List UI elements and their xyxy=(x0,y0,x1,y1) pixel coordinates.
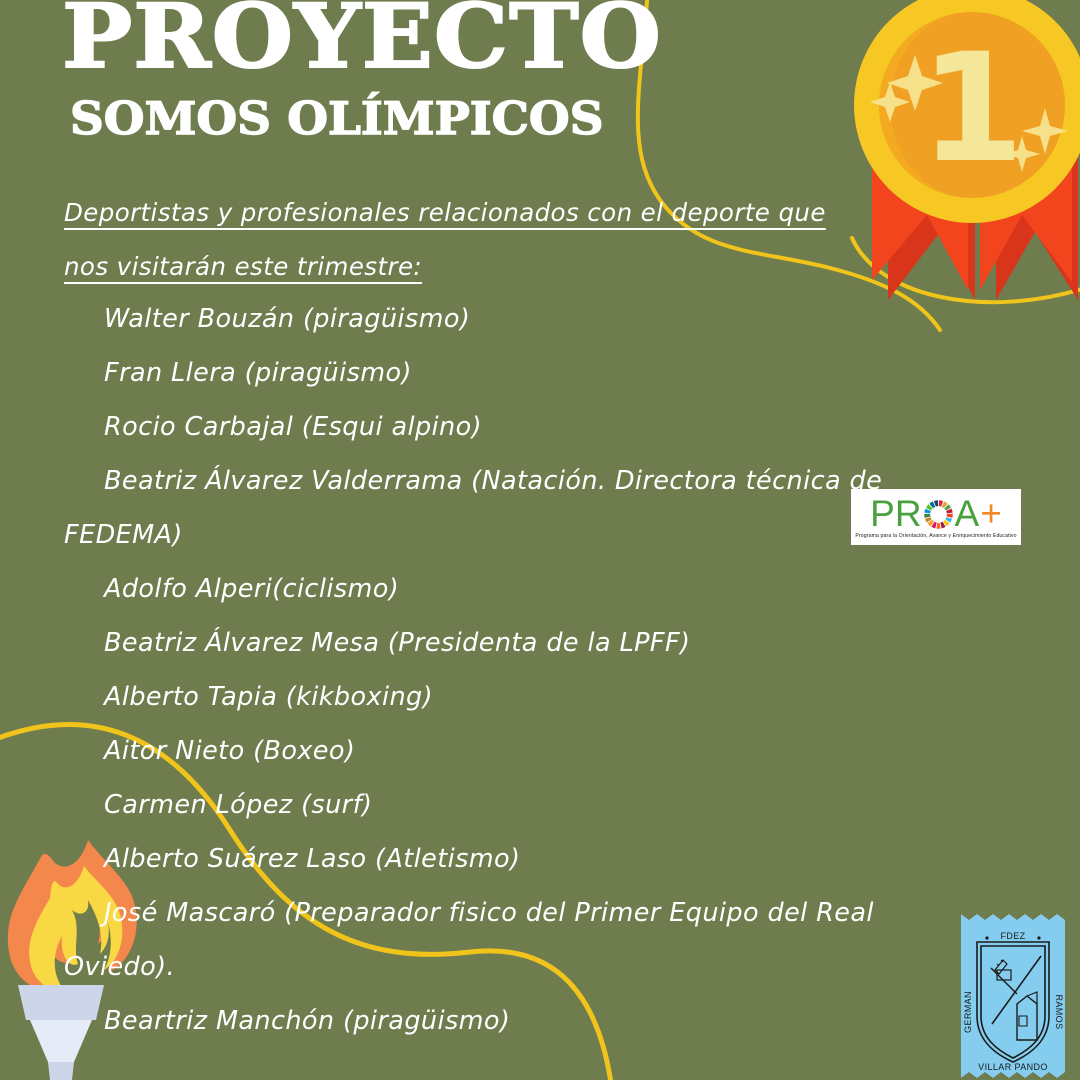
page-subtitle: SOMOS OLÍMPICOS xyxy=(70,96,650,141)
proa-letters-after: A xyxy=(955,496,980,532)
page-title: PROYECTO xyxy=(62,0,662,80)
svg-text:VILLAR PANDO: VILLAR PANDO xyxy=(978,1062,1048,1072)
list-item: Carmen López (surf) xyxy=(64,778,944,832)
medal-ribbons xyxy=(872,130,1078,300)
list-item: Adolfo Alperi(ciclismo) xyxy=(64,562,944,616)
list-item: Aitor Nieto (Boxeo) xyxy=(64,724,944,778)
medal-sparkles xyxy=(870,55,1068,172)
list-item: Walter Bouzán (piragüismo) xyxy=(64,292,944,346)
list-item: Beatriz Álvarez Mesa (Presidenta de la L… xyxy=(64,616,944,670)
list-item: Beatriz Álvarez Valderrama (Natación. Di… xyxy=(64,454,944,562)
medal-coin xyxy=(854,0,1080,223)
visitors-list: Walter Bouzán (piragüismo) Fran Llera (p… xyxy=(64,292,944,1048)
school-badge: FDEZ GERMAN RAMOS VILLAR PANDO xyxy=(957,912,1069,1080)
intro-text: Deportistas y profesionales relacionados… xyxy=(64,186,864,294)
svg-text:GERMAN: GERMAN xyxy=(963,991,973,1033)
list-item: Rocio Carbajal (Esqui alpino) xyxy=(64,400,944,454)
list-item: Beartriz Manchón (piragüismo) xyxy=(64,994,944,1048)
list-item: Alberto Suárez Laso (Atletismo) xyxy=(64,832,944,886)
svg-text:FDEZ: FDEZ xyxy=(1000,931,1025,941)
list-item: Alberto Tapia (kikboxing) xyxy=(64,670,944,724)
svg-text:RAMOS: RAMOS xyxy=(1054,994,1064,1029)
list-item: Fran Llera (piragüismo) xyxy=(64,346,944,400)
list-item: José Mascaró (Preparador fisico del Prim… xyxy=(64,886,944,994)
title-block: PROYECTO SOMOS OLÍMPICOS xyxy=(62,0,628,141)
medal-number: 1 xyxy=(920,22,1024,196)
poster-canvas: 1 PROYECTO SOMOS OLÍMPICOS Deportistas y… xyxy=(0,0,1080,1080)
proa-plus-sign: + xyxy=(980,496,1002,532)
